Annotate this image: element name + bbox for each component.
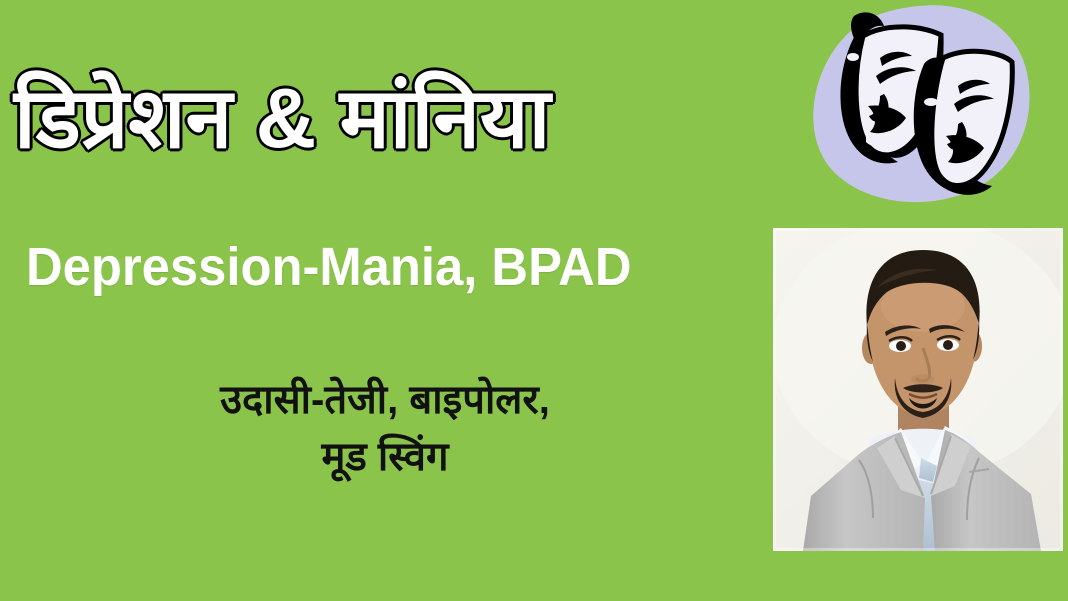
person-portrait-photo (773, 228, 1063, 551)
hindi-description-line-2: मूड स्विंग (10, 429, 760, 486)
english-subtitle: Depression-Mania, BPAD (26, 236, 722, 298)
theatre-masks-icon (806, 2, 1038, 210)
hindi-description: उदासी-तेजी, बाइपोलर, मूड स्विंग (10, 372, 760, 486)
thumbnail-canvas: डिप्रेशन & मांनिया Depression-Mania, BPA… (0, 0, 1068, 601)
hindi-description-line-1: उदासी-तेजी, बाइपोलर, (10, 372, 760, 429)
page-title: डिप्रेशन & मांनिया (14, 58, 804, 178)
